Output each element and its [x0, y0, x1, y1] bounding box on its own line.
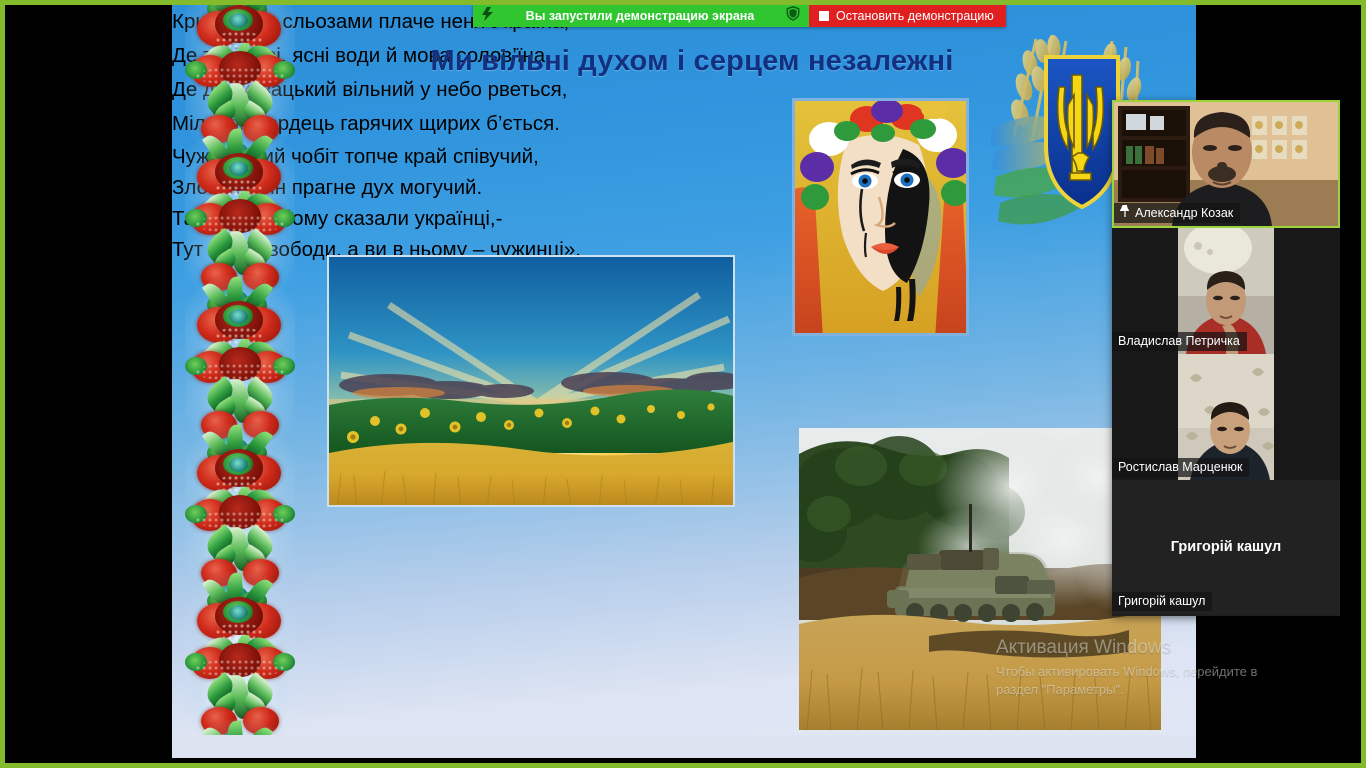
participants-panel: Александр Козак	[1112, 100, 1340, 616]
pin-icon	[1120, 205, 1130, 220]
presentation-slide: Ми вільні духом і серцем незалежні Крива…	[172, 5, 1196, 745]
stop-sharing-label: Остановить демонстрацию	[836, 9, 994, 23]
participant-tile[interactable]: Александр Козак	[1112, 100, 1340, 228]
screen-root: Ми вільні духом і серцем незалежні Крива…	[0, 0, 1366, 768]
participant-name: Ростислав Марценюк	[1118, 460, 1242, 474]
sunflower-field-image	[327, 255, 735, 507]
participant-name-badge: Григорій кашул	[1112, 592, 1212, 611]
participant-name: Владислав Петричка	[1118, 334, 1240, 348]
share-status-text: Вы запустили демонстрацию экрана	[502, 9, 778, 23]
ornament-border	[185, 5, 295, 745]
screen-share-icon	[481, 7, 494, 26]
shield-icon	[786, 6, 800, 26]
participant-name-badge: Владислав Петричка	[1112, 332, 1247, 351]
participant-name: Александр Козак	[1135, 206, 1233, 220]
ornament-motif	[185, 433, 295, 583]
participant-name: Григорій кашул	[1118, 594, 1205, 608]
stop-square-icon	[819, 11, 829, 21]
participant-name-badge: Александр Козак	[1114, 203, 1240, 223]
tank-image	[799, 428, 1161, 730]
share-status-bar: Вы запустили демонстрацию экрана	[473, 5, 809, 27]
participant-name-badge: Ростислав Марценюк	[1112, 458, 1249, 477]
page-title: Ми вільні духом і серцем незалежні	[332, 45, 1052, 78]
ornament-motif	[185, 137, 295, 287]
participant-tile[interactable]: Ростислав Марценюк	[1112, 354, 1340, 480]
stop-sharing-button[interactable]: Остановить демонстрацию	[809, 5, 1006, 27]
participant-tile[interactable]: Владислав Петричка	[1112, 228, 1340, 354]
participant-tile[interactable]: Григорій кашул Григорій кашул	[1112, 480, 1340, 614]
screen-share-banner: Вы запустили демонстрацию экрана Останов…	[473, 5, 1006, 27]
ornament-motif	[185, 285, 295, 435]
ornament-motif	[185, 581, 295, 731]
ornament-motif	[185, 5, 295, 139]
woman-portrait-image	[792, 98, 969, 336]
slide-bottom-strip	[172, 735, 1196, 758]
participant-placeholder-name: Григорій кашул	[1112, 539, 1340, 555]
